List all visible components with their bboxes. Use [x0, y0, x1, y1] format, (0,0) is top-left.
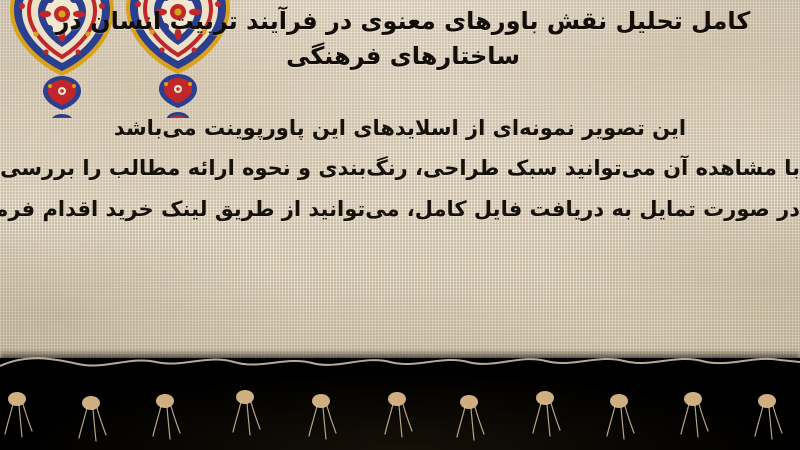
slide-body: این تصویر نمونه‌ای از اسلایدهای این پاور…: [0, 108, 800, 229]
slide-body-line-3: در صورت تمایل به دریافت فایل کامل، می‌تو…: [0, 189, 800, 229]
slide-title: کامل تحلیل نقش باورهای معنوی در فرآیند ت…: [32, 4, 774, 74]
slide-body-line-1: این تصویر نمونه‌ای از اسلایدهای این پاور…: [0, 108, 800, 148]
slide-body-line-2: با مشاهده آن می‌توانید سبک طراحی، رنگ‌بن…: [0, 148, 800, 188]
presentation-slide: کامل تحلیل نقش باورهای معنوی در فرآیند ت…: [0, 0, 800, 450]
slide-title-line-2: ساختارهای فرهنگی: [32, 39, 774, 74]
slide-content: کامل تحلیل نقش باورهای معنوی در فرآیند ت…: [0, 0, 800, 450]
slide-title-line-1: کامل تحلیل نقش باورهای معنوی در فرآیند ت…: [32, 4, 774, 39]
